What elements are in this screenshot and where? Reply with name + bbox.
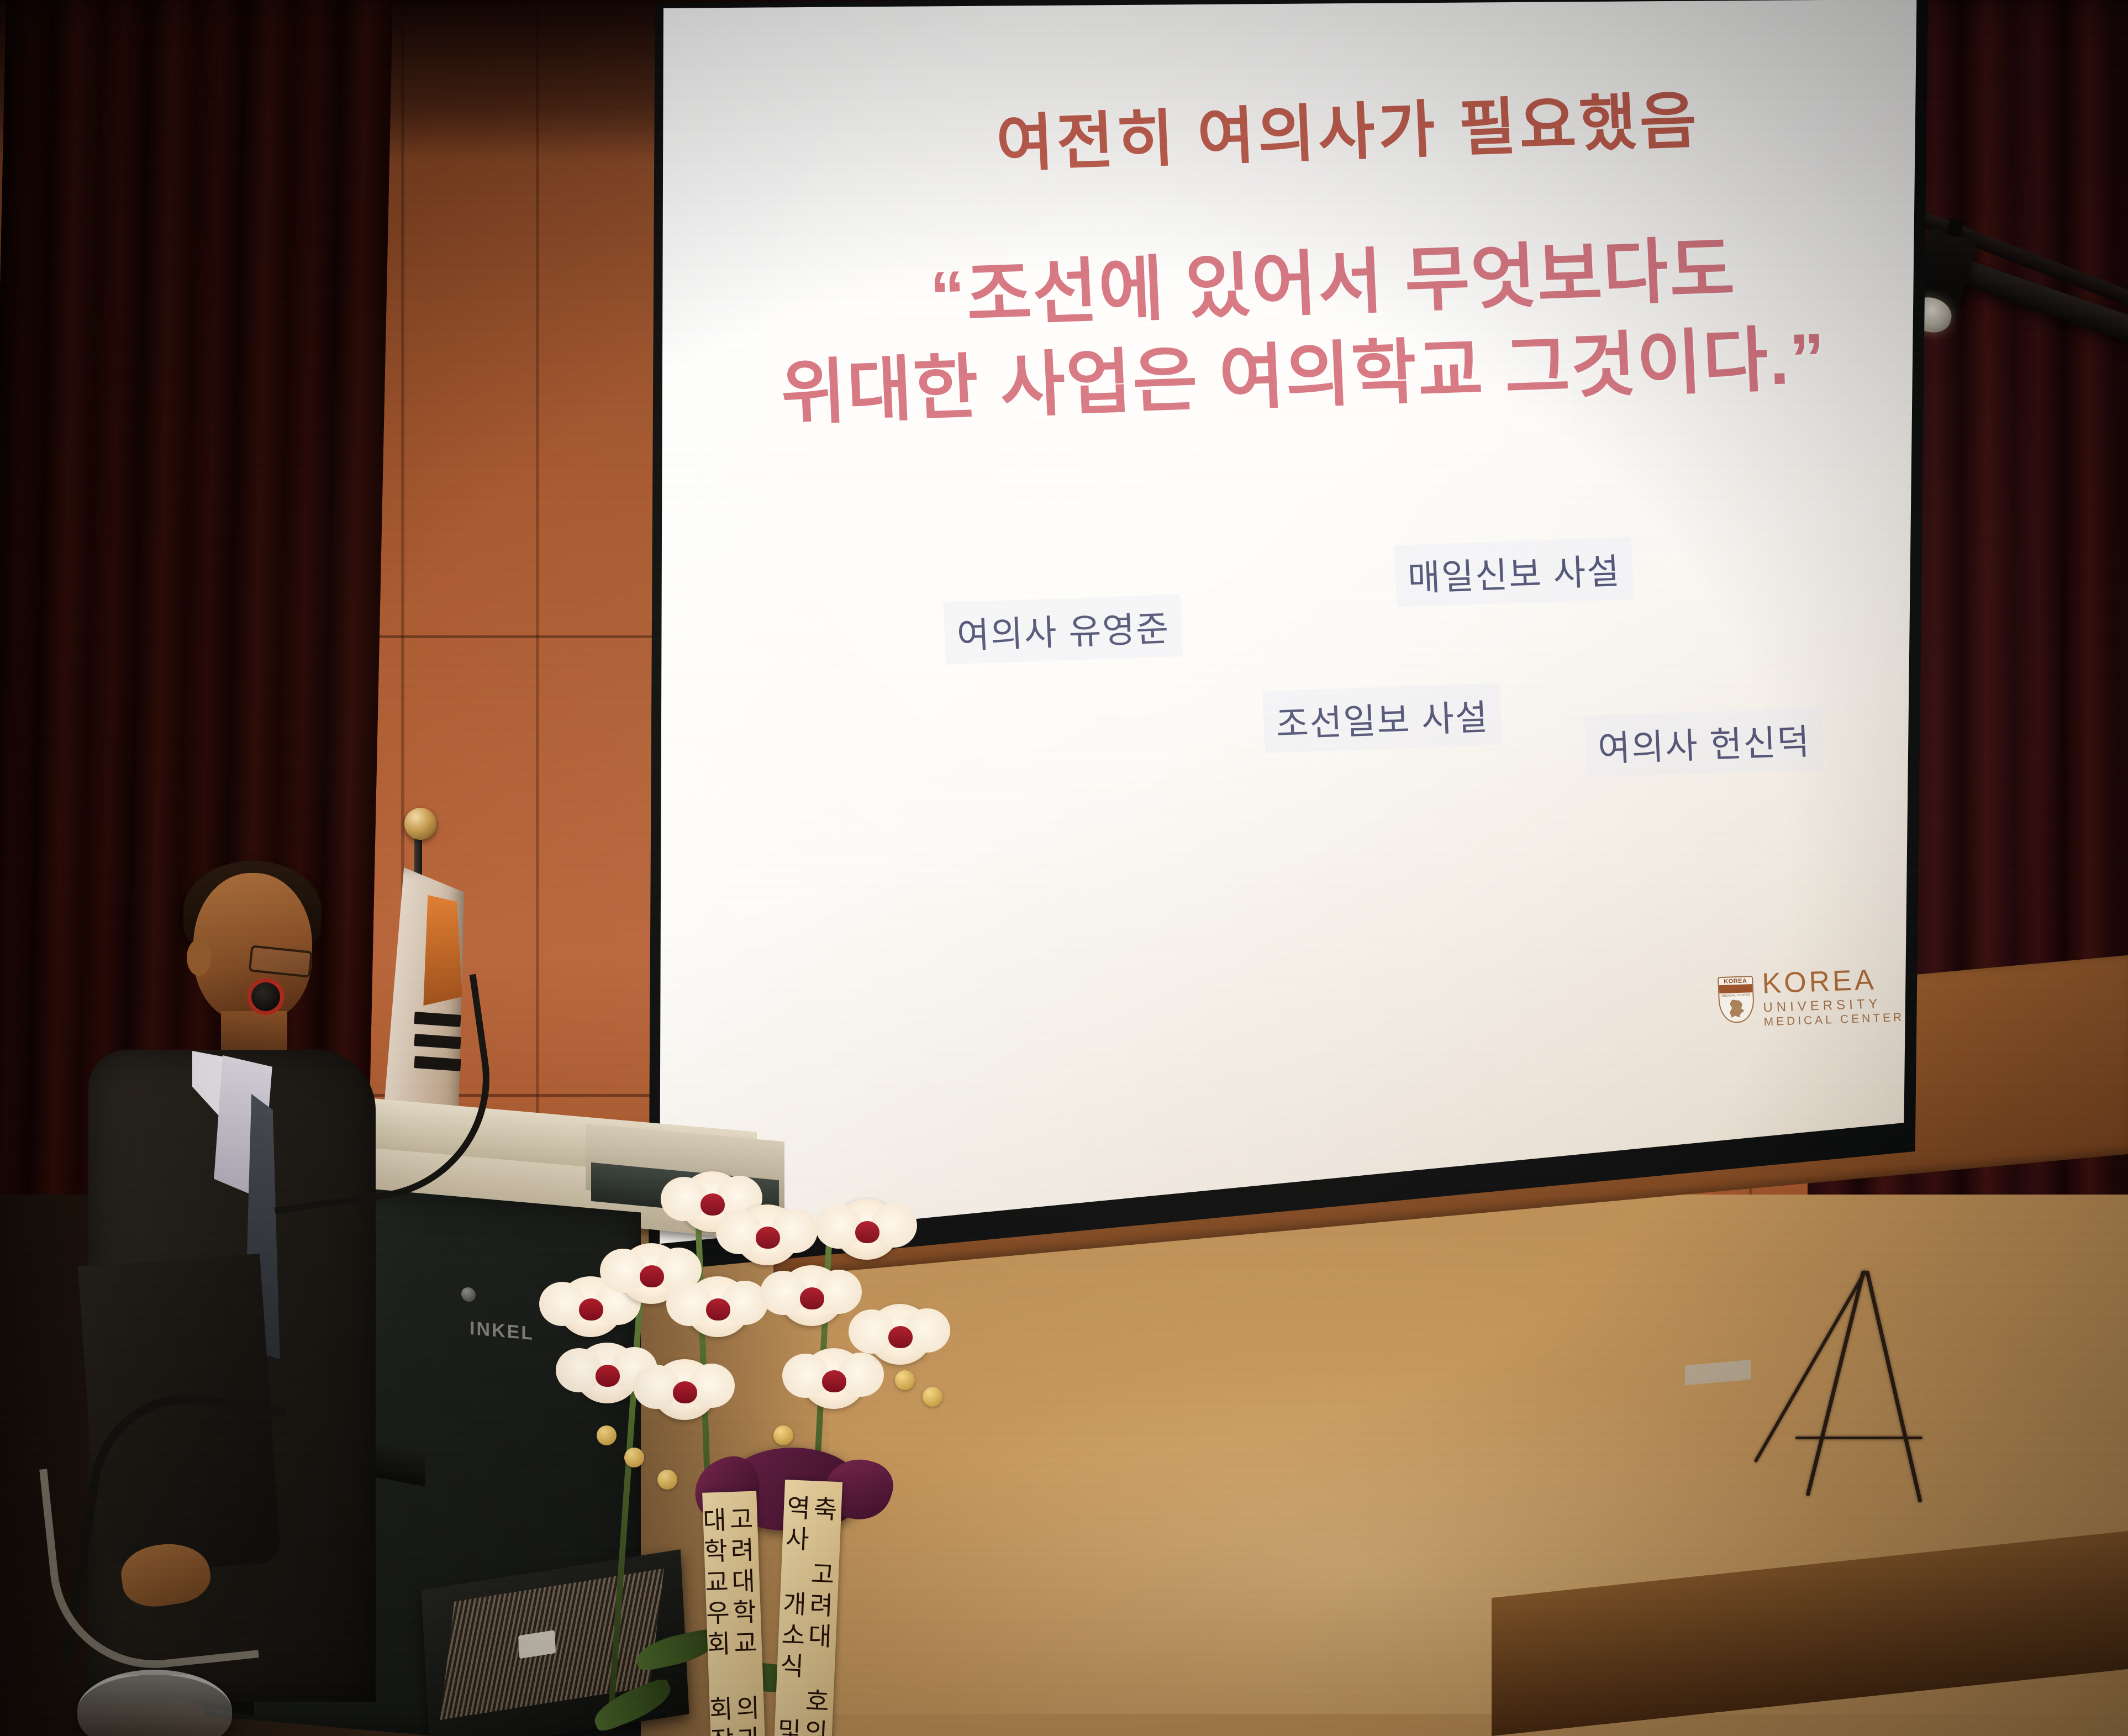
orchid-bud: [773, 1425, 793, 1445]
orchid-bud: [895, 1370, 915, 1390]
screen-falloff: [651, 0, 1919, 1256]
speaker-ear: [187, 939, 211, 976]
orchid-flower-arrangement: 고려대학교 의과대학교우회 회장 차 축 고려대 호의역사 개소식 및 심포지: [541, 1138, 939, 1736]
orchid-bud: [597, 1425, 617, 1445]
auditorium-stage-scene: 여전히 여의사가 필요했음 “조선에 있어서 무엇보다도 위대한 사업은 여의학…: [0, 0, 2128, 1736]
flower-ribbon-right: 축 고려대 호의역사 개소식 및 심포지: [773, 1480, 842, 1736]
microphone-capsule-icon[interactable]: [251, 982, 280, 1011]
orchid-bloom: [652, 1359, 717, 1420]
orchid-bloom: [834, 1199, 899, 1260]
orchid-bloom: [867, 1304, 933, 1365]
orchid-bloom: [801, 1348, 866, 1409]
tripod-crossbar: [1795, 1437, 1922, 1439]
orchid-bud: [657, 1470, 677, 1490]
orchid-bloom: [685, 1276, 750, 1337]
orchid-bloom: [779, 1265, 844, 1326]
screen-tripod-stand: [1840, 1271, 2039, 1514]
orchid-bloom: [735, 1204, 800, 1265]
orchid-bud: [624, 1448, 644, 1467]
flower-ribbon-left: 고려대학교 의과대학교우회 회장 차: [702, 1491, 766, 1736]
orchid-leaf: [589, 1676, 677, 1734]
tripod-leg: [1865, 1270, 1922, 1503]
orchid-bloom: [575, 1343, 640, 1403]
orchid-bud: [923, 1387, 942, 1407]
flag-finial-icon: [404, 808, 436, 840]
projection-screen[interactable]: 여전히 여의사가 필요했음 “조선에 있어서 무엇보다도 위대한 사업은 여의학…: [651, 0, 1919, 1256]
